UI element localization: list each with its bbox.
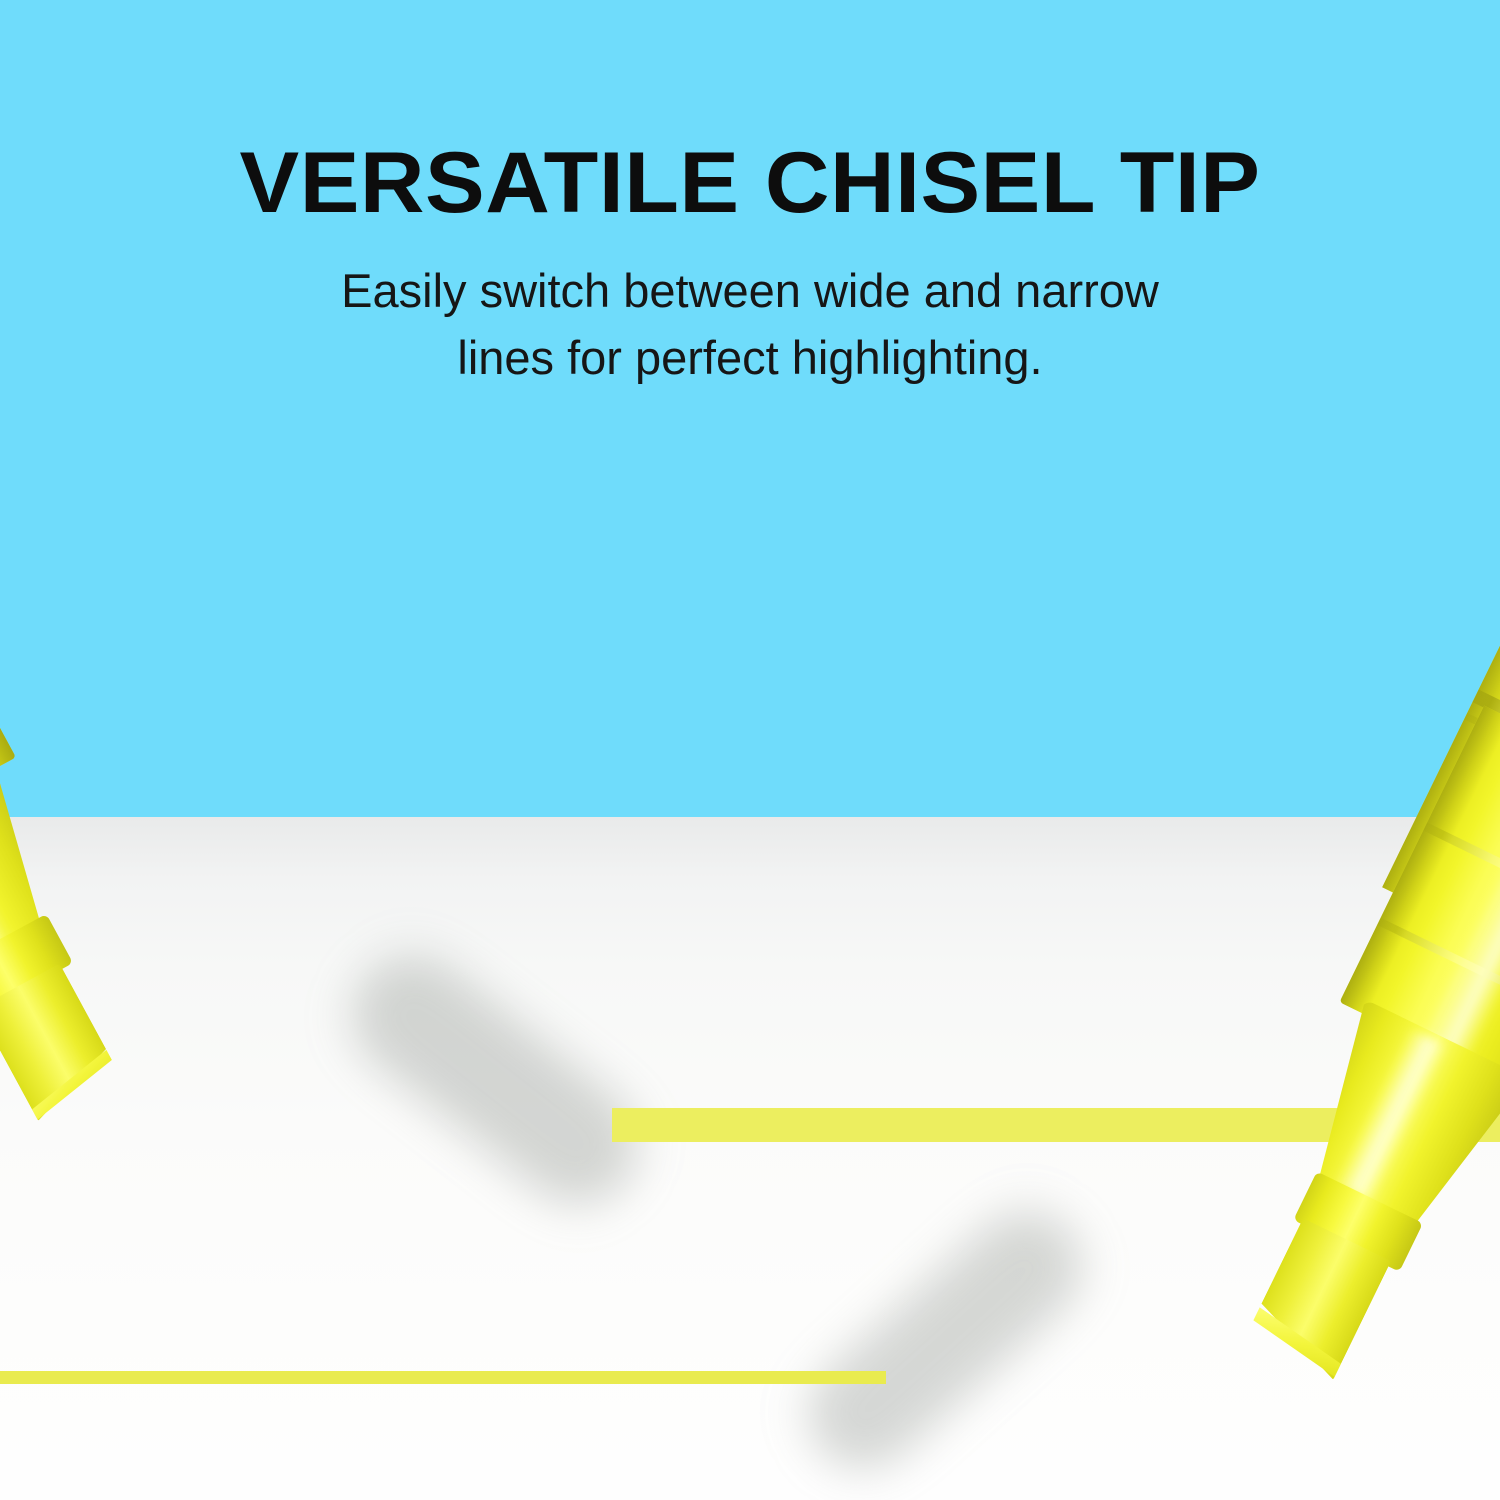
narrow-highlight-stroke [0, 1371, 886, 1384]
product-feature-banner: HIGHLIGHTER HIGHLIGHTER [0, 0, 1500, 1500]
background-blue-panel [0, 0, 1500, 817]
